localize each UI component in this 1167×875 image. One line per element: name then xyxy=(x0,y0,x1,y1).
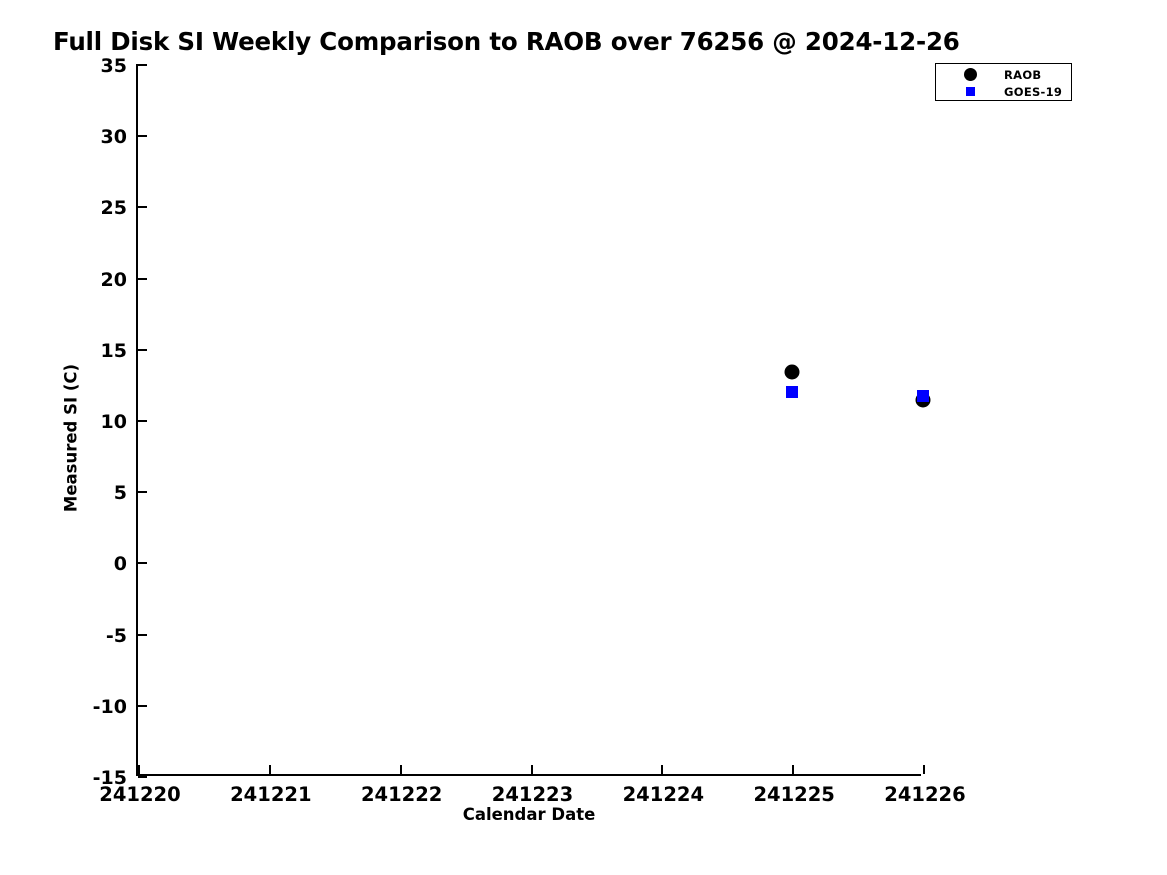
y-axis-tick: -10 xyxy=(138,705,147,707)
x-axis-tick: 241225 xyxy=(792,765,794,774)
y-axis-tick-label: 15 xyxy=(101,340,127,362)
y-axis-tick-label: -10 xyxy=(93,696,127,718)
y-axis-tick-label: 5 xyxy=(114,482,127,504)
y-axis-tick: 0 xyxy=(138,562,147,564)
legend-swatch-wrapper xyxy=(936,68,1004,81)
square-marker-icon xyxy=(966,87,975,96)
x-axis-tick-label: 241224 xyxy=(623,783,704,806)
plot-area: 35302520151050-5-10-15241220241221241222… xyxy=(136,64,921,776)
y-axis-tick-label: 30 xyxy=(101,126,127,148)
x-axis-tick: 241226 xyxy=(923,765,925,774)
x-axis-tick: 241220 xyxy=(138,765,140,774)
data-point-goes-19 xyxy=(917,390,929,402)
x-axis-tick: 241223 xyxy=(531,765,533,774)
legend-item-raob: RAOB xyxy=(936,66,1071,83)
y-axis-label: Measured SI (C) xyxy=(62,363,81,511)
chart-legend: RAOBGOES-19 xyxy=(935,63,1072,101)
x-axis-tick: 241224 xyxy=(661,765,663,774)
x-axis-tick: 241222 xyxy=(400,765,402,774)
x-axis-tick-label: 241220 xyxy=(99,783,180,806)
y-axis-tick: 20 xyxy=(138,278,147,280)
plot-inner: 35302520151050-5-10-15241220241221241222… xyxy=(138,64,921,774)
y-axis-tick-label: 25 xyxy=(101,197,127,219)
x-axis-tick-label: 241225 xyxy=(753,783,834,806)
chart-title: Full Disk SI Weekly Comparison to RAOB o… xyxy=(53,27,960,56)
chart-figure: Full Disk SI Weekly Comparison to RAOB o… xyxy=(0,0,1167,875)
y-axis-tick: -15 xyxy=(138,776,147,778)
x-axis-tick-label: 241221 xyxy=(230,783,311,806)
y-axis-tick: -5 xyxy=(138,634,147,636)
y-axis-tick-label: 0 xyxy=(114,553,127,575)
y-axis-tick: 35 xyxy=(138,64,147,66)
y-axis-tick-label: -5 xyxy=(106,625,127,647)
y-axis-tick: 15 xyxy=(138,349,147,351)
legend-swatch-wrapper xyxy=(936,87,1004,96)
y-axis-tick: 10 xyxy=(138,420,147,422)
x-axis-label: Calendar Date xyxy=(463,805,596,824)
legend-label: GOES-19 xyxy=(1004,85,1062,99)
y-axis-tick: 25 xyxy=(138,206,147,208)
x-axis-tick-label: 241226 xyxy=(884,783,965,806)
x-axis-tick-label: 241222 xyxy=(361,783,442,806)
y-axis-tick: 5 xyxy=(138,491,147,493)
y-axis-tick-label: 10 xyxy=(101,411,127,433)
legend-item-goes-19: GOES-19 xyxy=(936,83,1071,100)
y-axis-tick-label: 35 xyxy=(101,55,127,77)
circle-marker-icon xyxy=(964,68,977,81)
data-point-goes-19 xyxy=(786,386,798,398)
x-axis-tick-label: 241223 xyxy=(492,783,573,806)
y-axis-tick: 30 xyxy=(138,135,147,137)
x-axis-tick: 241221 xyxy=(269,765,271,774)
y-axis-tick-label: 20 xyxy=(101,269,127,291)
legend-label: RAOB xyxy=(1004,68,1042,82)
data-point-raob xyxy=(785,364,800,379)
